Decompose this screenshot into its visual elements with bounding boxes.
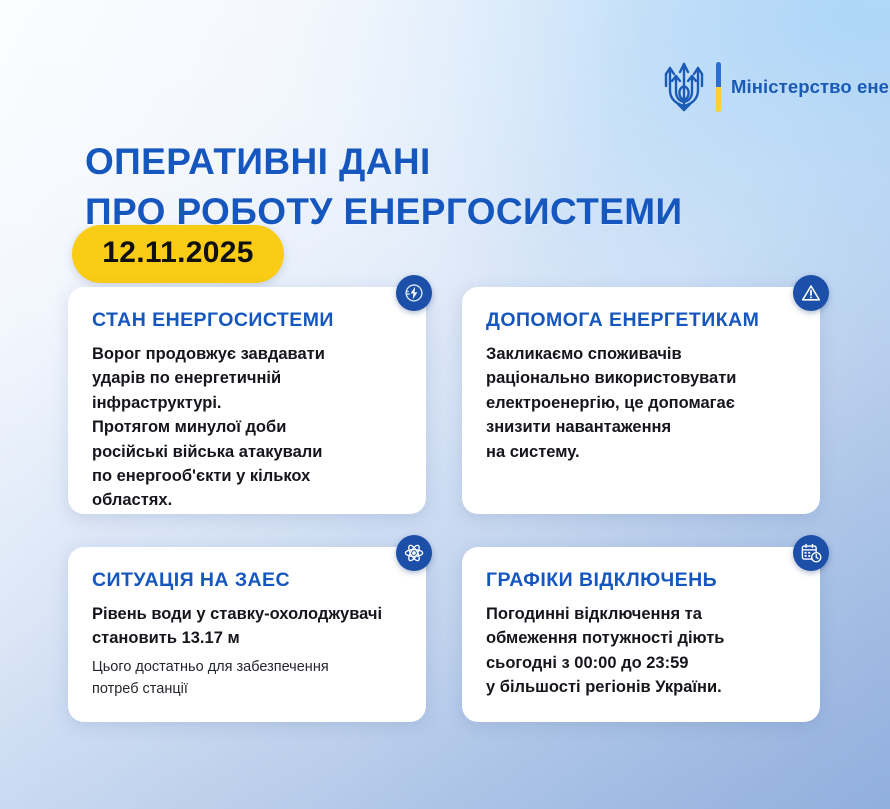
ministry-logo: Міністерство енергетики України bbox=[662, 60, 890, 114]
page-title-line-1: ОПЕРАТИВНІ ДАНІ bbox=[85, 141, 431, 182]
page-title: ОПЕРАТИВНІ ДАНІ ПРО РОБОТУ ЕНЕРГОСИСТЕМИ bbox=[85, 137, 683, 237]
date-badge: 12.11.2025 bbox=[72, 225, 284, 283]
card-body: Закликаємо споживачів раціонально викори… bbox=[486, 342, 796, 464]
card-title: ДОПОМОГА ЕНЕРГЕТИКАМ bbox=[486, 309, 796, 332]
infographic-poster: Міністерство енергетики України ОПЕРАТИВ… bbox=[0, 0, 890, 809]
card-body: Рівень води у ставку-охолоджувачі станов… bbox=[92, 602, 402, 651]
card-body: Погодинні відключення та обмеження потуж… bbox=[486, 602, 796, 700]
lightning-bolt-icon bbox=[396, 275, 432, 311]
card-title: СТАН ЕНЕРГОСИСТЕМИ bbox=[92, 309, 402, 332]
warning-triangle-icon bbox=[793, 275, 829, 311]
card-subtext: Цього достатньо для забезпечення потреб … bbox=[92, 657, 402, 701]
ministry-logo-text: Міністерство енергетики України bbox=[731, 75, 890, 98]
logo-divider bbox=[716, 62, 721, 112]
ukraine-trident-icon bbox=[662, 60, 706, 114]
card-hrafiky-vidkliuchen: ГРАФІКИ ВІДКЛЮЧЕНЬ Погодинні відключення… bbox=[462, 547, 820, 722]
card-title: ГРАФІКИ ВІДКЛЮЧЕНЬ bbox=[486, 569, 796, 592]
card-title: СИТУАЦІЯ НА ЗАЕС bbox=[92, 569, 402, 592]
card-stan-enerhosystemy: СТАН ЕНЕРГОСИСТЕМИ Ворог продовжує завда… bbox=[68, 287, 426, 514]
calendar-clock-icon bbox=[793, 535, 829, 571]
card-sytuatsiia-na-zaes: СИТУАЦІЯ НА ЗАЕС Рівень води у ставку-ох… bbox=[68, 547, 426, 722]
card-dopomoha-enerhetykam: ДОПОМОГА ЕНЕРГЕТИКАМ Закликаємо споживач… bbox=[462, 287, 820, 514]
card-body: Ворог продовжує завдавати ударів по енер… bbox=[92, 342, 402, 513]
atom-icon bbox=[396, 535, 432, 571]
